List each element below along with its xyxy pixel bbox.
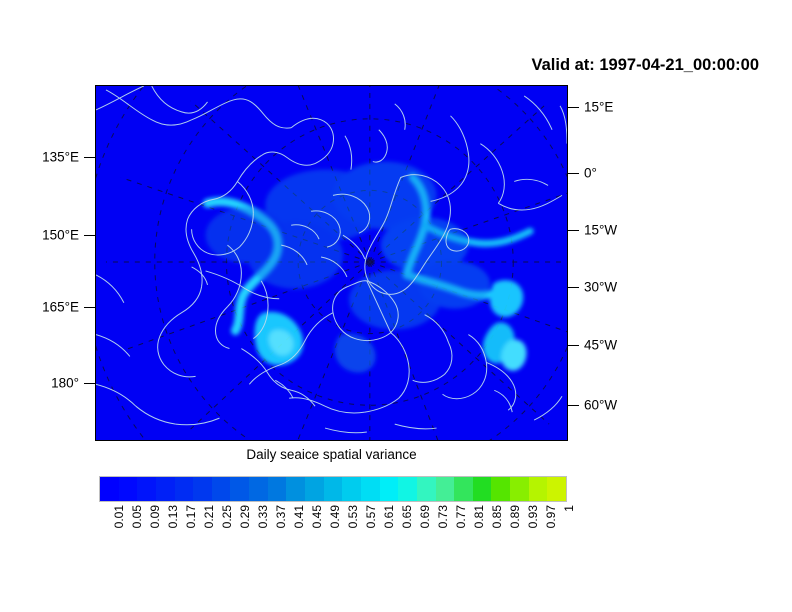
right-tick-label-2: 15°W — [584, 223, 617, 237]
colorbar-band-22 — [510, 477, 529, 501]
colorbar-band-12 — [324, 477, 343, 501]
left-tick-label-3: 180° — [51, 376, 79, 390]
colorbar-gradient[interactable] — [99, 476, 567, 502]
left-tick-label-2: 165°E — [42, 300, 79, 314]
colorbar-band-16 — [398, 477, 417, 501]
colorbar-band-13 — [342, 477, 361, 501]
colorbar-band-23 — [529, 477, 548, 501]
colorbar-tick-label-6: 0.25 — [221, 505, 233, 528]
colorbar-tick-label-9: 0.37 — [275, 505, 287, 528]
colorbar-tick-label-3: 0.13 — [167, 505, 179, 528]
left-tick-mark — [84, 307, 95, 308]
colorbar-tick-label-24: 0.97 — [545, 505, 557, 528]
colorbar-band-0 — [100, 477, 119, 501]
colorbar-tick-label-2: 0.09 — [149, 505, 161, 528]
right-tick-mark — [568, 107, 579, 108]
colorbar-tick-label-21: 0.85 — [491, 505, 503, 528]
left-tick-label-1: 150°E — [42, 228, 79, 242]
axis-caption: Daily seaice spatial variance — [95, 447, 568, 462]
map-plot-area[interactable] — [95, 85, 568, 441]
colorbar-tick-label-7: 0.29 — [239, 505, 251, 528]
colorbar-band-20 — [473, 477, 492, 501]
colorbar-tick-label-19: 0.77 — [455, 505, 467, 528]
colorbar-tick-label-15: 0.61 — [383, 505, 395, 528]
colorbar-band-3 — [156, 477, 175, 501]
colorbar-band-1 — [119, 477, 138, 501]
colorbar-tick-label-11: 0.45 — [311, 505, 323, 528]
colorbar-band-24 — [547, 477, 566, 501]
right-tick-mark — [568, 173, 579, 174]
colorbar-band-2 — [137, 477, 156, 501]
colorbar-tick-label-8: 0.33 — [257, 505, 269, 528]
colorbar-band-4 — [175, 477, 194, 501]
colorbar-band-18 — [436, 477, 455, 501]
colorbar-band-6 — [212, 477, 231, 501]
colorbar-band-14 — [361, 477, 380, 501]
colorbar-band-15 — [380, 477, 399, 501]
colorbar-tick-label-14: 0.57 — [365, 505, 377, 528]
colorbar-band-19 — [454, 477, 473, 501]
colorbar-band-21 — [491, 477, 510, 501]
right-tick-label-0: 15°E — [584, 100, 613, 114]
colorbar-band-11 — [305, 477, 324, 501]
right-tick-label-3: 30°W — [584, 280, 617, 294]
colorbar-band-7 — [230, 477, 249, 501]
colorbar-tick-label-5: 0.21 — [203, 505, 215, 528]
colorbar-band-17 — [417, 477, 436, 501]
right-tick-mark — [568, 230, 579, 231]
colorbar-tick-label-22: 0.89 — [509, 505, 521, 528]
colorbar-tick-label-13: 0.53 — [347, 505, 359, 528]
colorbar-tick-label-16: 0.65 — [401, 505, 413, 528]
colorbar-tick-label-10: 0.41 — [293, 505, 305, 528]
colorbar-band-8 — [249, 477, 268, 501]
colorbar-tick-label-12: 0.49 — [329, 505, 341, 528]
right-tick-label-5: 60°W — [584, 398, 617, 412]
right-tick-mark — [568, 287, 579, 288]
left-tick-mark — [84, 383, 95, 384]
colorbar-tick-label-1: 0.05 — [131, 505, 143, 528]
colorbar-band-9 — [268, 477, 287, 501]
right-tick-mark — [568, 345, 579, 346]
colorbar-tick-label-25: 1 — [563, 505, 575, 512]
colorbar-tick-label-4: 0.17 — [185, 505, 197, 528]
right-tick-label-4: 45°W — [584, 338, 617, 352]
left-tick-mark — [84, 235, 95, 236]
left-tick-label-0: 135°E — [42, 150, 79, 164]
colorbar-tick-label-17: 0.69 — [419, 505, 431, 528]
polar-stereographic-map — [96, 86, 567, 440]
colorbar[interactable] — [99, 476, 567, 502]
left-tick-mark — [84, 157, 95, 158]
colorbar-tick-label-20: 0.81 — [473, 505, 485, 528]
colorbar-tick-labels: 0.010.050.090.130.170.210.250.290.330.37… — [99, 505, 567, 565]
colorbar-band-10 — [286, 477, 305, 501]
colorbar-band-5 — [193, 477, 212, 501]
right-tick-label-1: 0° — [584, 166, 597, 180]
colorbar-tick-label-18: 0.73 — [437, 505, 449, 528]
figure-canvas: Valid at: 1997-04-21_00:00:00 — [0, 0, 792, 612]
right-tick-mark — [568, 405, 579, 406]
figure-title: Valid at: 1997-04-21_00:00:00 — [532, 56, 759, 75]
colorbar-tick-label-0: 0.01 — [113, 505, 125, 528]
colorbar-tick-label-23: 0.93 — [527, 505, 539, 528]
